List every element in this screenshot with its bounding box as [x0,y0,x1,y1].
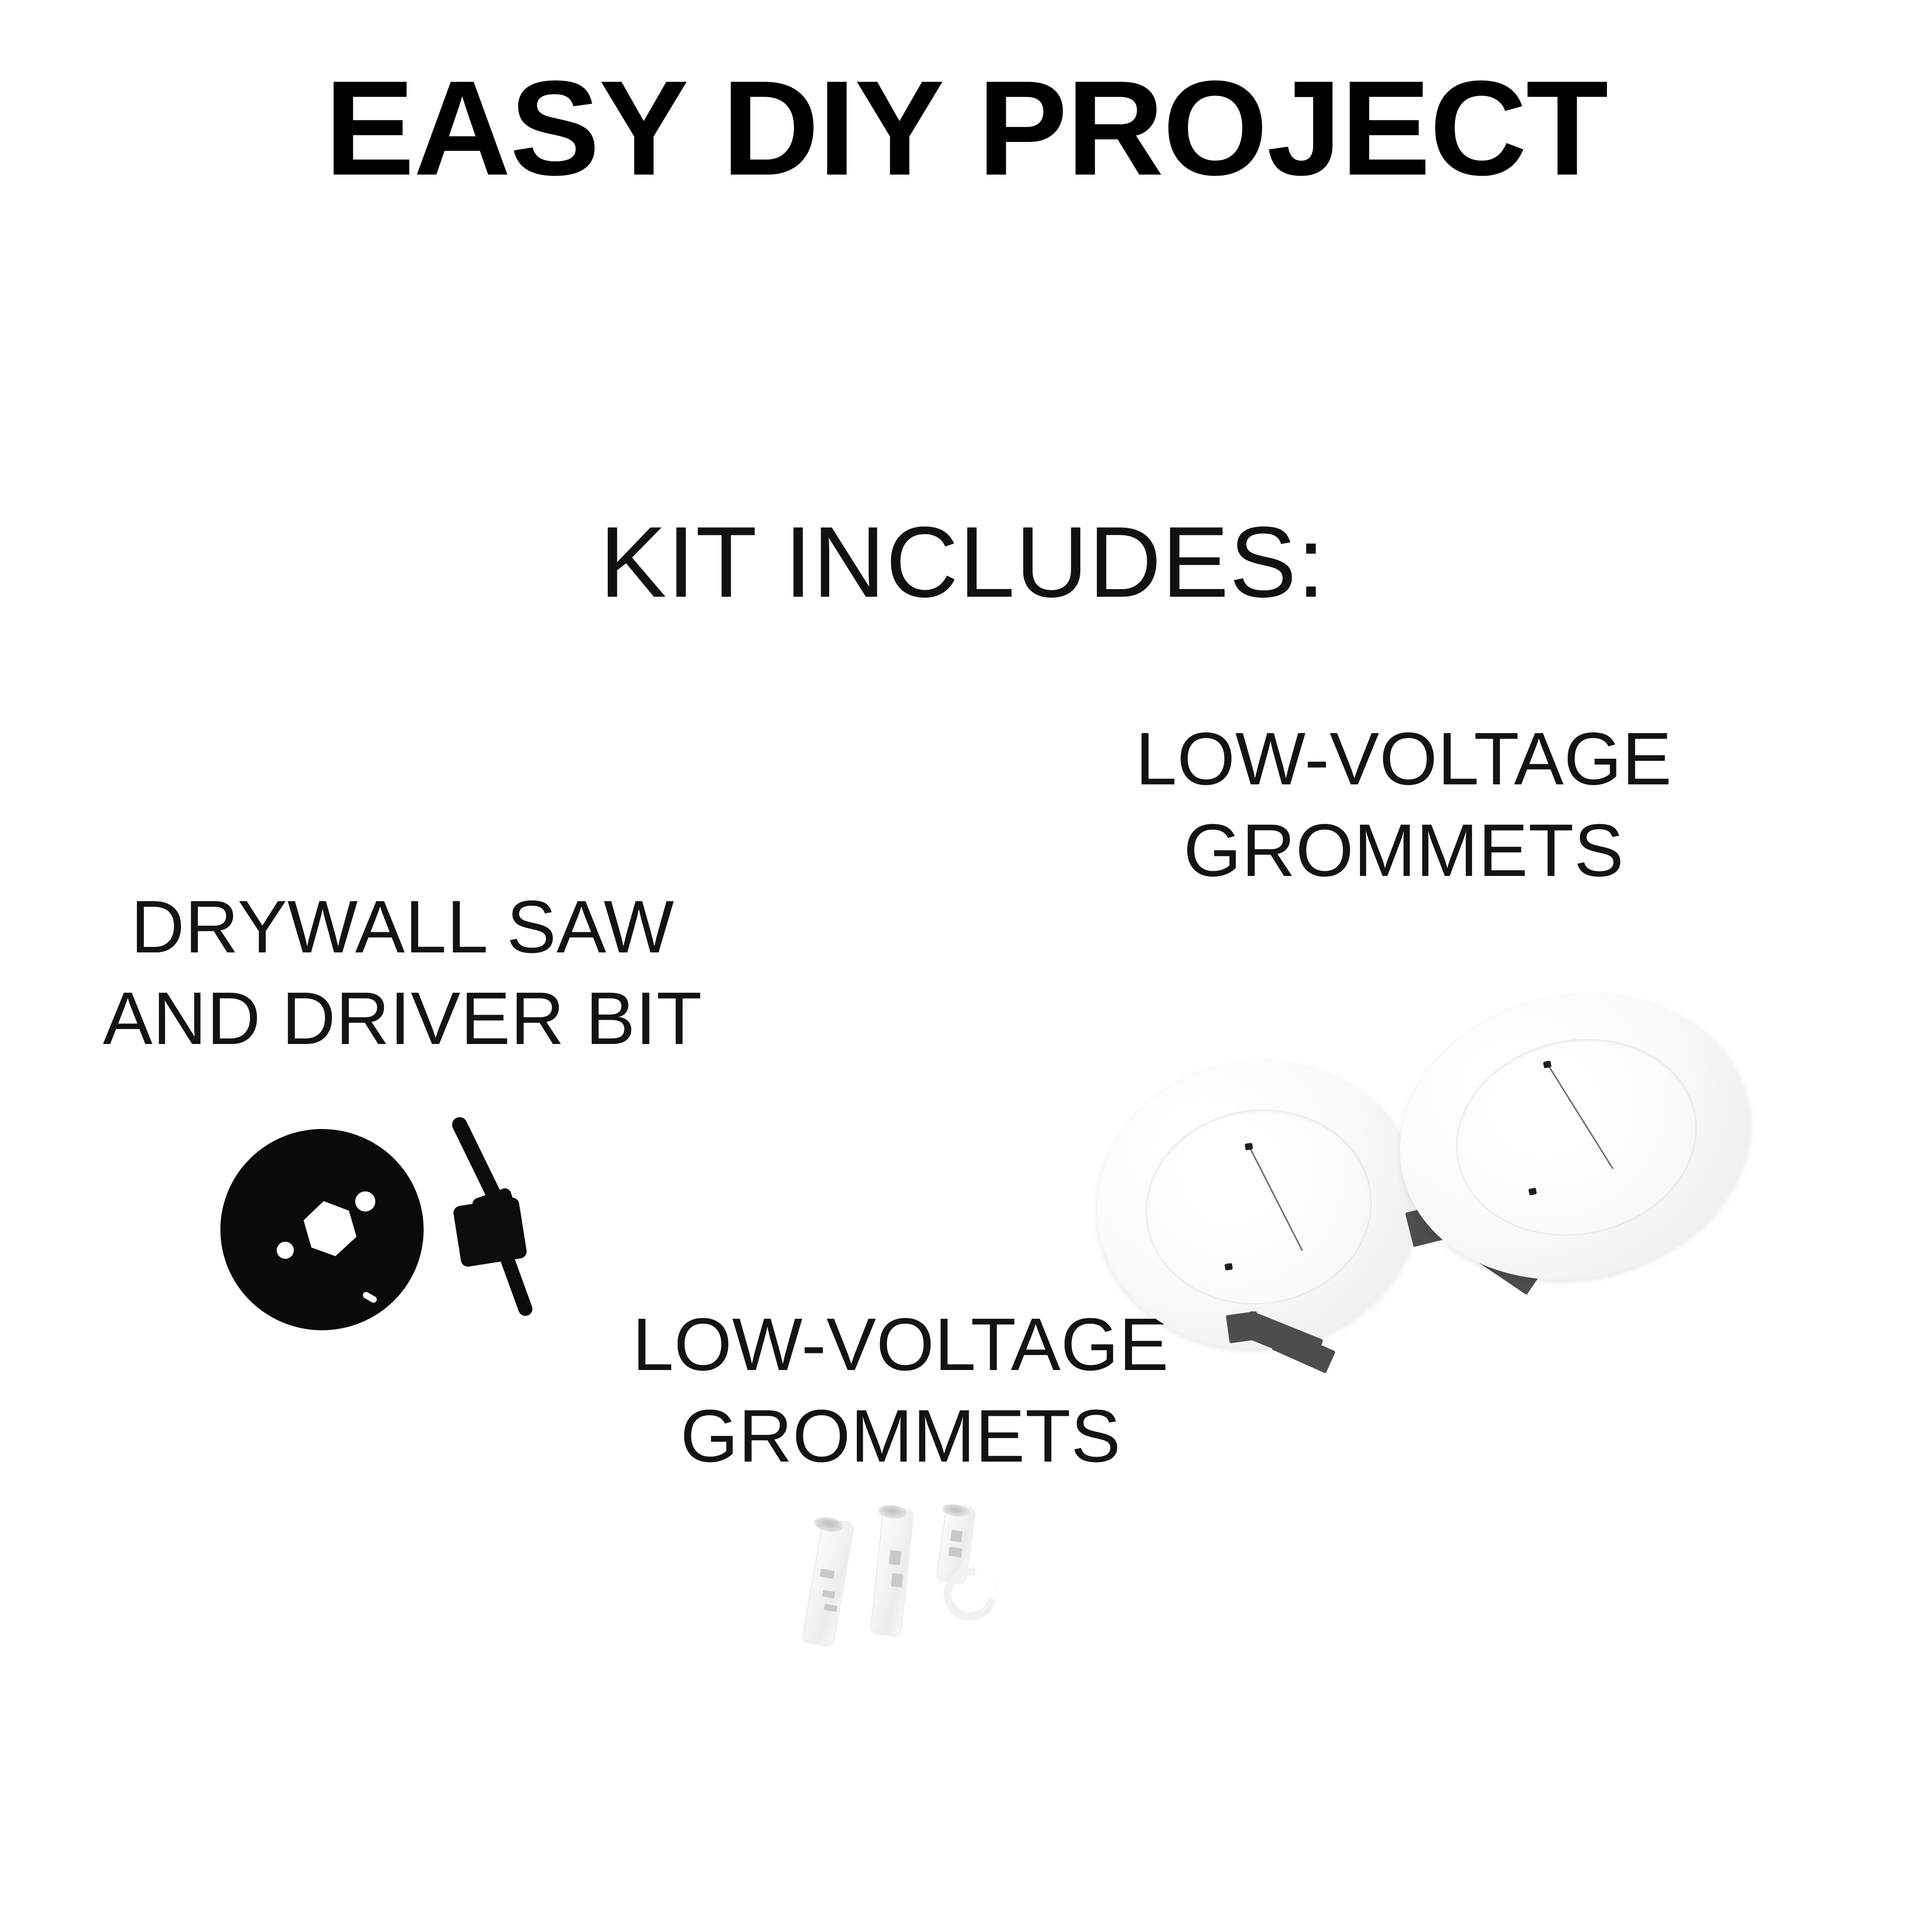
kit-includes-heading-text: KIT INCLUDES: [600,512,1326,613]
infographic-canvas: EASY DIY PROJECT KIT INCLUDES: LOW-VOLTA… [0,0,1932,1932]
hole-saw-product-image [211,1107,614,1358]
connectors-product-image [800,1504,1016,1675]
callout-label-drywall-saw: DRYWALL SAW AND DRIVER BIT [60,881,745,1065]
grommet-plate-right [1373,962,1776,1311]
grommet-plate-left-inner-ring [1133,1095,1384,1319]
grommet-plate-right-inner-ring [1437,1017,1715,1257]
connector-tube-2-mark-b [891,1573,904,1587]
callout-line-2: AND DRIVER BIT [60,973,745,1065]
callout-label-grommets-top: LOW-VOLTAGE GROMMETS [1082,713,1726,897]
connector-tube-2-mark-a [889,1550,902,1565]
connector-tube-2 [870,1506,914,1636]
hole-saw-pilot-hole-b [277,1242,294,1259]
page-title: EASY DIY PROJECT [0,60,1932,195]
callout-line-1: LOW-VOLTAGE [1082,713,1726,805]
callout-line-1: DRYWALL SAW [60,881,745,973]
grommet-plate-left-dot-a [1245,1143,1253,1150]
connector-tube-1 [801,1517,855,1647]
connector-tube-3-mark-b [948,1547,962,1557]
hole-saw-pilot-hole-a [355,1191,375,1212]
callout-line-2: GROMMETS [1082,805,1726,897]
driver-bit-product-image [428,1107,609,1348]
connector-tube-3-mark-a [950,1530,963,1543]
grommet-plate-left-dot-b [1225,1263,1233,1270]
kit-includes-heading: KIT INCLUDES: [0,512,1932,613]
grommet-plates-product-image [1077,986,1781,1479]
